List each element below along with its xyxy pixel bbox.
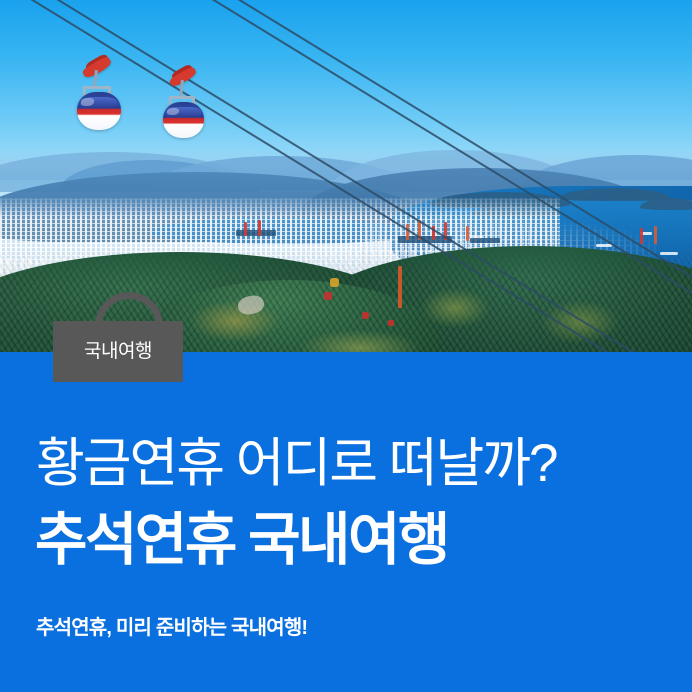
dock	[236, 230, 276, 236]
headline-line-2: 추석연휴 국내여행	[35, 512, 448, 569]
subtitle: 추석연휴, 미리 준비하는 국내여행!	[36, 618, 307, 638]
distant-gondola	[362, 312, 369, 319]
harbor-crane	[258, 220, 261, 236]
autumn-foliage	[420, 288, 490, 328]
harbor-crane	[640, 228, 643, 244]
gondola-yoke	[170, 96, 194, 99]
harbor-crane	[244, 222, 247, 236]
gondola-yoke	[84, 86, 110, 89]
gondola-cabin	[163, 102, 204, 138]
travel-promo-banner: 국내여행 황금연휴 어디로 떠날까? 추석연휴 국내여행 추석연휴, 미리 준비…	[0, 0, 692, 692]
distant-gondola	[330, 278, 339, 287]
cable-car-pylon	[398, 266, 402, 308]
distant-gondola	[388, 320, 394, 326]
dock	[470, 238, 500, 243]
harbor-crane	[466, 226, 469, 241]
gondola-cabin	[77, 92, 121, 130]
text-panel: 황금연휴 어디로 떠날까? 추석연휴 국내여행 추석연휴, 미리 준비하는 국내…	[0, 352, 692, 692]
category-badge-label: 국내여행	[84, 342, 152, 361]
autumn-foliage	[190, 300, 280, 342]
distant-gondola	[324, 292, 332, 300]
hero-photo	[0, 0, 692, 352]
category-badge-box: 국내여행	[53, 321, 183, 382]
headline-line-1: 황금연휴 어디로 떠날까?	[36, 437, 557, 490]
harbor-crane	[654, 226, 657, 244]
